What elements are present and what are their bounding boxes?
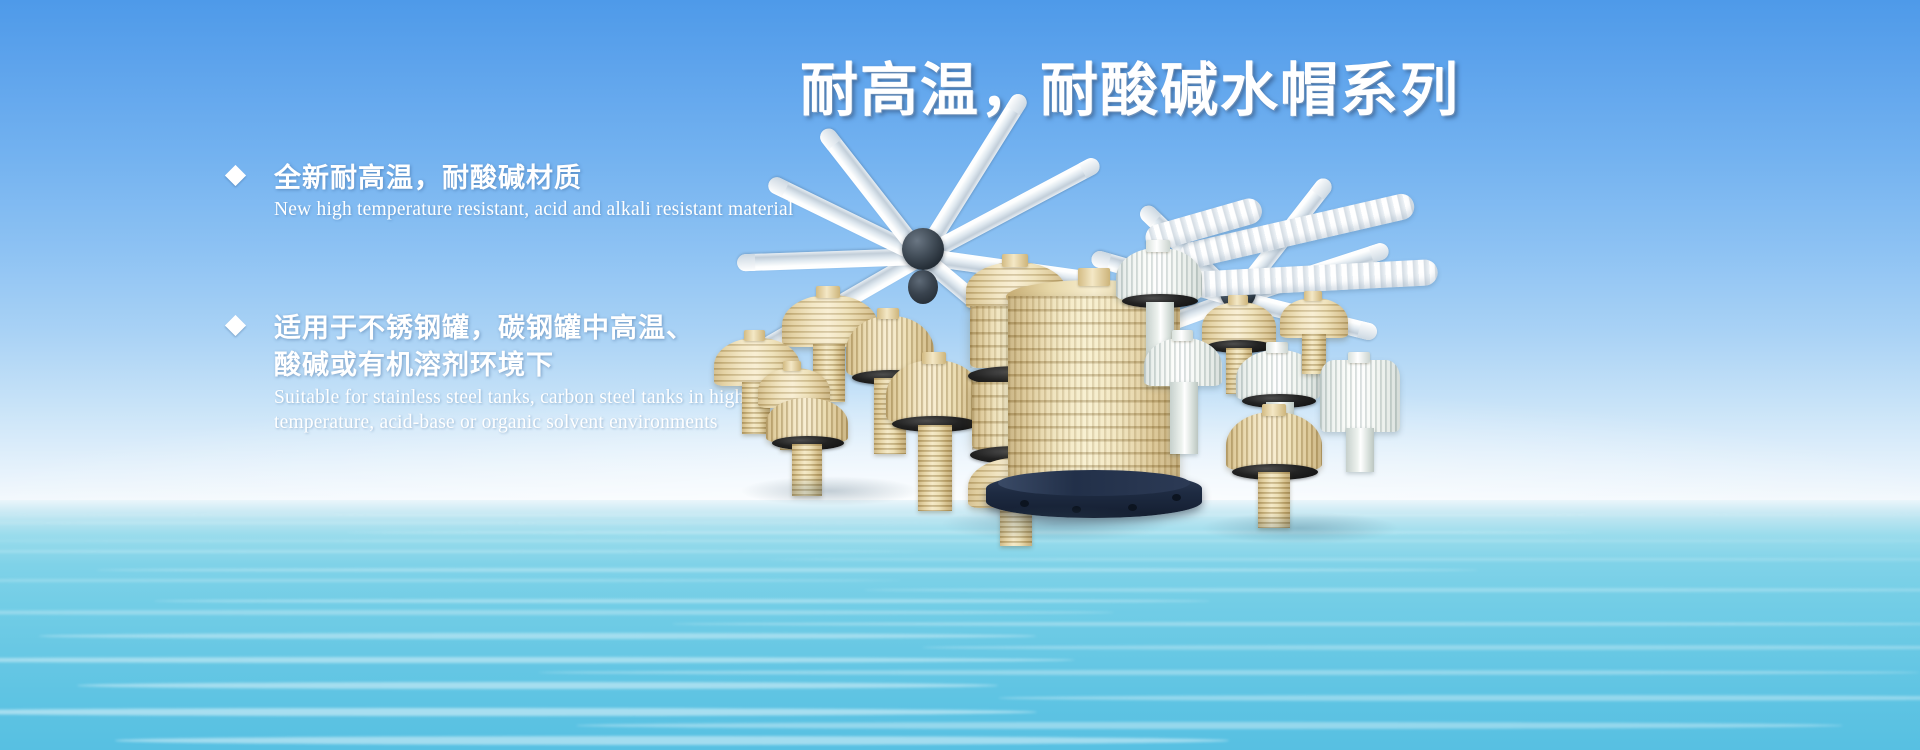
product-photo-group bbox=[680, 120, 1920, 540]
product-banner: 耐高温，耐酸碱水帽系列 全新耐高温，耐酸碱材质 New high tempera… bbox=[0, 0, 1920, 750]
page-title: 耐高温，耐酸碱水帽系列 bbox=[800, 58, 1380, 125]
contact-shadow bbox=[740, 476, 920, 506]
diamond-bullet-icon bbox=[225, 315, 246, 336]
contact-shadow bbox=[1200, 512, 1400, 544]
diamond-bullet-icon bbox=[225, 165, 246, 186]
contact-shadow bbox=[940, 506, 1170, 542]
